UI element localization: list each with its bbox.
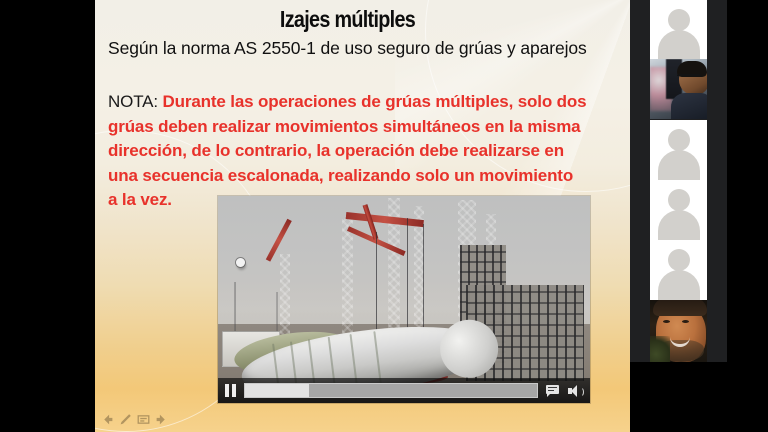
next-slide-arrow-icon[interactable] [155, 413, 168, 426]
embedded-video-player[interactable] [218, 196, 590, 403]
pen-annotation-icon[interactable] [119, 413, 132, 426]
avatar-icon [668, 9, 690, 31]
avatar-icon [668, 189, 690, 211]
participant-tile-6[interactable] [650, 300, 707, 362]
participant-tile-5[interactable] [650, 240, 707, 300]
avatar-body-icon [658, 150, 700, 180]
volume-icon[interactable] [568, 384, 584, 398]
note-label: NOTA: [108, 92, 158, 111]
participant-video-2 [650, 59, 707, 119]
note-line-4: una secuencia escalonada, realizando sol… [108, 164, 630, 189]
participant-video-6 [650, 300, 707, 362]
page-title: Izajes múltiples [130, 6, 564, 33]
participant-tile-2[interactable] [650, 59, 707, 119]
participant-sidebar [630, 0, 727, 362]
note-line-3: dirección, de lo contrario, la operación… [108, 139, 630, 164]
participant-tile-1[interactable] [650, 0, 707, 60]
presentation-slide: Izajes múltiples Según la norma AS 2550-… [95, 0, 630, 432]
video-control-bar[interactable] [218, 378, 590, 403]
participant-tile-4[interactable] [650, 180, 707, 240]
avatar-icon [668, 249, 690, 271]
slide-navigation-toolbar[interactable] [101, 413, 168, 426]
note-line-1: Durante las operaciones de grúas múltipl… [163, 92, 587, 111]
slide-menu-icon[interactable] [137, 413, 150, 426]
seek-bar[interactable] [244, 383, 538, 398]
previous-slide-arrow-icon[interactable] [101, 413, 114, 426]
note-line-2: grúas deben realizar movimientos simultá… [108, 115, 630, 140]
subtitles-icon[interactable] [545, 384, 561, 398]
mouse-cursor [236, 258, 245, 267]
avatar-body-icon [658, 30, 700, 60]
pause-icon[interactable] [224, 384, 237, 398]
seek-progress [245, 384, 309, 397]
slide-subtitle: Según la norma AS 2550-1 de uso seguro d… [108, 38, 630, 59]
screen-share-window: Izajes múltiples Según la norma AS 2550-… [0, 0, 768, 432]
avatar-body-icon [658, 210, 700, 240]
avatar-body-icon [658, 270, 700, 300]
avatar-icon [668, 129, 690, 151]
note-text-block: NOTA: Durante las operaciones de grúas m… [108, 90, 630, 213]
participant-tile-3[interactable] [650, 120, 707, 180]
